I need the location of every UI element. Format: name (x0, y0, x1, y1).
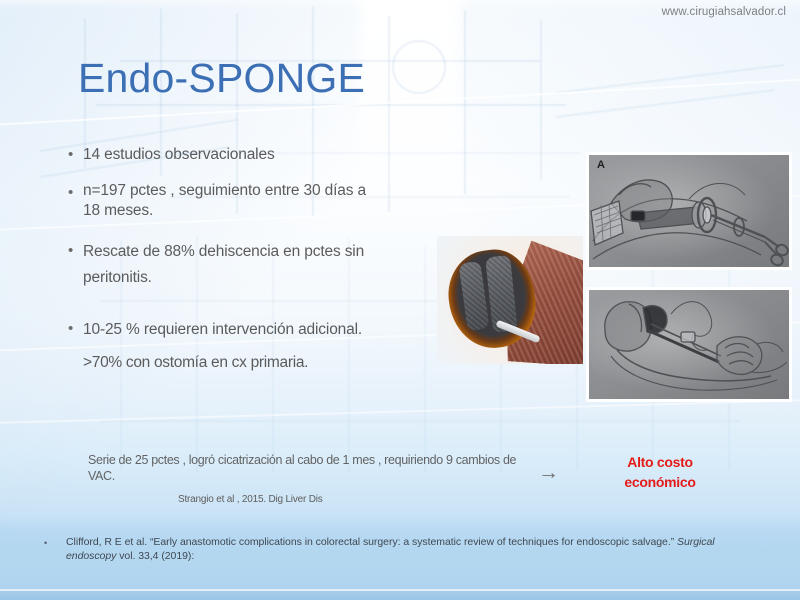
panel-b-image (589, 290, 789, 399)
footnote-part2: vol. 33,4 (2019): (116, 550, 194, 562)
list-item-label: Rescate de 88% dehiscencia en pctes sin … (83, 239, 413, 291)
site-url: www.cirugiahsalvador.cl (662, 6, 786, 18)
bullet-marker-icon: • (68, 143, 83, 167)
slide: www.cirugiahsalvador.cl Endo-SPONGE • 14… (0, 0, 800, 600)
panel-a-sketch (589, 155, 789, 267)
footnote-part1: Clifford, R E et al. “Early anastomotic … (66, 536, 677, 548)
panel-a-label: A (597, 159, 605, 171)
list-item: • 14 estudios observacionales (68, 143, 448, 167)
page-title: Endo-SPONGE (78, 55, 365, 102)
list-item-label: 14 estudios observacionales (83, 143, 275, 167)
list-item: • Rescate de 88% dehiscencia en pctes si… (68, 239, 448, 291)
footnote-text: Clifford, R E et al. “Early anastomotic … (66, 536, 750, 563)
cost-callout-line1: Alto costo (600, 452, 720, 472)
panel-b-figure (586, 287, 792, 402)
sponge-placement-illustration (437, 236, 583, 364)
bullet-marker-icon: • (68, 317, 83, 341)
bottom-strip (0, 591, 800, 600)
footnote: • Clifford, R E et al. “Early anastomoti… (44, 536, 750, 563)
list-item-label: 10-25 % requieren intervención adicional… (83, 317, 362, 342)
bullet-marker-icon: • (68, 239, 83, 263)
panel-a-image (589, 155, 789, 267)
bullet-marker-icon: • (68, 181, 83, 205)
cost-callout-line2: económico (600, 472, 720, 492)
cost-callout: Alto costo económico (600, 452, 720, 492)
right-arrow-icon: → (538, 462, 559, 483)
sub-statement: >70% con ostomía en cx primaria. (83, 352, 448, 374)
list-item-label: n=197 pctes , seguimiento entre 30 días … (83, 181, 383, 221)
study-citation: Strangio et al , 2015. Dig Liver Dis (178, 494, 323, 505)
list-item: • n=197 pctes , seguimiento entre 30 día… (68, 181, 448, 221)
list-item: • 10-25 % requieren intervención adicion… (68, 317, 448, 342)
footnote-marker-icon: • (44, 536, 66, 550)
panel-a-figure: A (586, 152, 792, 270)
panel-b-sketch (589, 290, 789, 399)
study-note: Serie de 25 pctes , logró cicatrización … (88, 452, 518, 484)
bullet-list: • 14 estudios observacionales • n=197 pc… (68, 143, 448, 374)
